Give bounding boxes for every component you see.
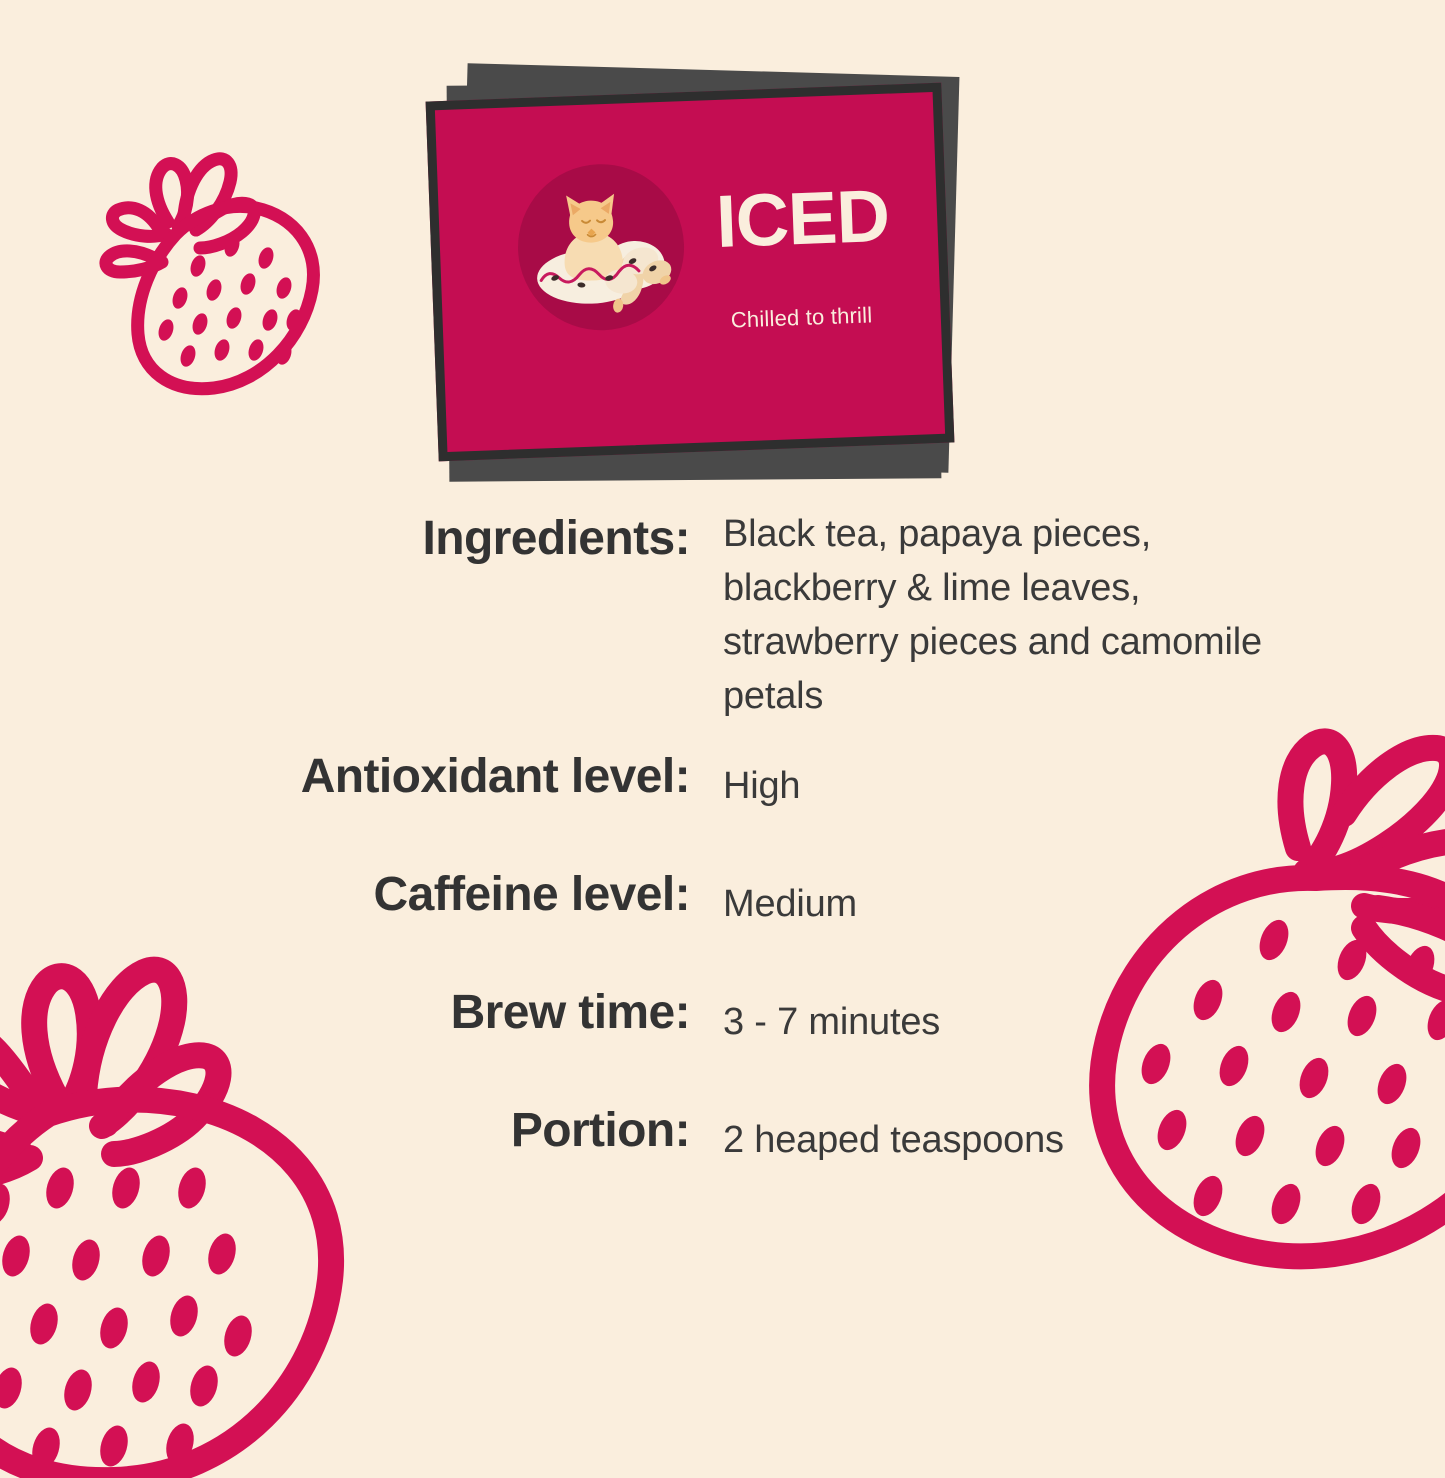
info-row-brew-time: Brew time: 3 - 7 minutes [0,988,1445,1050]
info-label-antioxidant-level: Antioxidant level: [0,752,690,802]
info-label-brew-time: Brew time: [0,988,690,1038]
info-value-ingredients: Black tea, papaya pieces, blackberry & l… [723,508,1283,724]
info-value-caffeine-level: Medium [723,870,857,932]
product-card-stack: ICED Chilled to thrill [430,62,970,482]
card-title: ICED [715,179,890,259]
product-card: ICED Chilled to thrill [426,83,955,462]
info-label-portion: Portion: [0,1106,690,1156]
product-info-table: Ingredients: Black tea, papaya pieces, b… [0,508,1445,1168]
info-row-caffeine-level: Caffeine level: Medium [0,870,1445,932]
info-row-antioxidant-level: Antioxidant level: High [0,752,1445,814]
info-value-brew-time: 3 - 7 minutes [723,988,940,1050]
info-label-ingredients: Ingredients: [0,508,690,564]
info-value-antioxidant-level: High [723,752,800,814]
card-tagline: Chilled to thrill [730,302,872,333]
info-row-ingredients: Ingredients: Black tea, papaya pieces, b… [0,508,1445,724]
info-value-portion: 2 heaped teaspoons [723,1106,1064,1168]
strawberry-icon-top-left [88,138,344,400]
info-row-portion: Portion: 2 heaped teaspoons [0,1106,1445,1168]
cat-in-donut-float-icon [526,175,681,320]
info-label-caffeine-level: Caffeine level: [0,870,690,920]
